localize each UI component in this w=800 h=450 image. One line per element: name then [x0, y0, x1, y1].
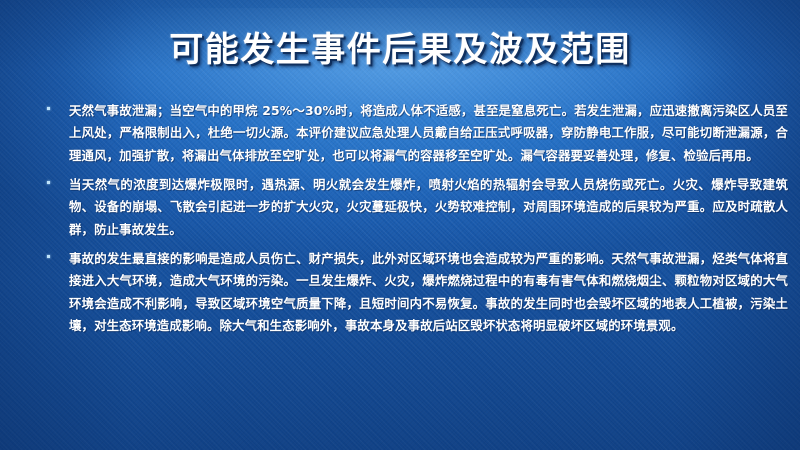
- slide-title: 可能发生事件后果及波及范围: [0, 32, 800, 69]
- bullet-paragraph-text: 当天然气的浓度到达爆炸极限时，遇热源、明火就会发生爆炸，喷射火焰的热辐射会导致人…: [69, 174, 788, 241]
- bullet-paragraph: 事故的发生最直接的影响是造成人员伤亡、财产损失，此外对区域环境也会造成较为严重的…: [40, 248, 788, 337]
- bullet-dot-icon: [40, 100, 69, 110]
- bullet-paragraph-text: 事故的发生最直接的影响是造成人员伤亡、财产损失，此外对区域环境也会造成较为严重的…: [69, 248, 788, 337]
- bullet-paragraph-text: 天然气事故泄漏；当空气中的甲烷 25%～30%时，将造成人体不适感，甚至是窒息死…: [69, 100, 788, 167]
- bullet-dot-icon: [40, 174, 69, 184]
- presentation-slide: 可能发生事件后果及波及范围 天然气事故泄漏；当空气中的甲烷 25%～30%时，将…: [0, 0, 800, 450]
- slide-content: 可能发生事件后果及波及范围 天然气事故泄漏；当空气中的甲烷 25%～30%时，将…: [0, 0, 800, 450]
- bullet-paragraph: 当天然气的浓度到达爆炸极限时，遇热源、明火就会发生爆炸，喷射火焰的热辐射会导致人…: [40, 174, 788, 241]
- bullet-dot-icon: [40, 248, 69, 258]
- bullet-paragraph: 天然气事故泄漏；当空气中的甲烷 25%～30%时，将造成人体不适感，甚至是窒息死…: [40, 100, 788, 167]
- slide-body: 天然气事故泄漏；当空气中的甲烷 25%～30%时，将造成人体不适感，甚至是窒息死…: [40, 100, 788, 344]
